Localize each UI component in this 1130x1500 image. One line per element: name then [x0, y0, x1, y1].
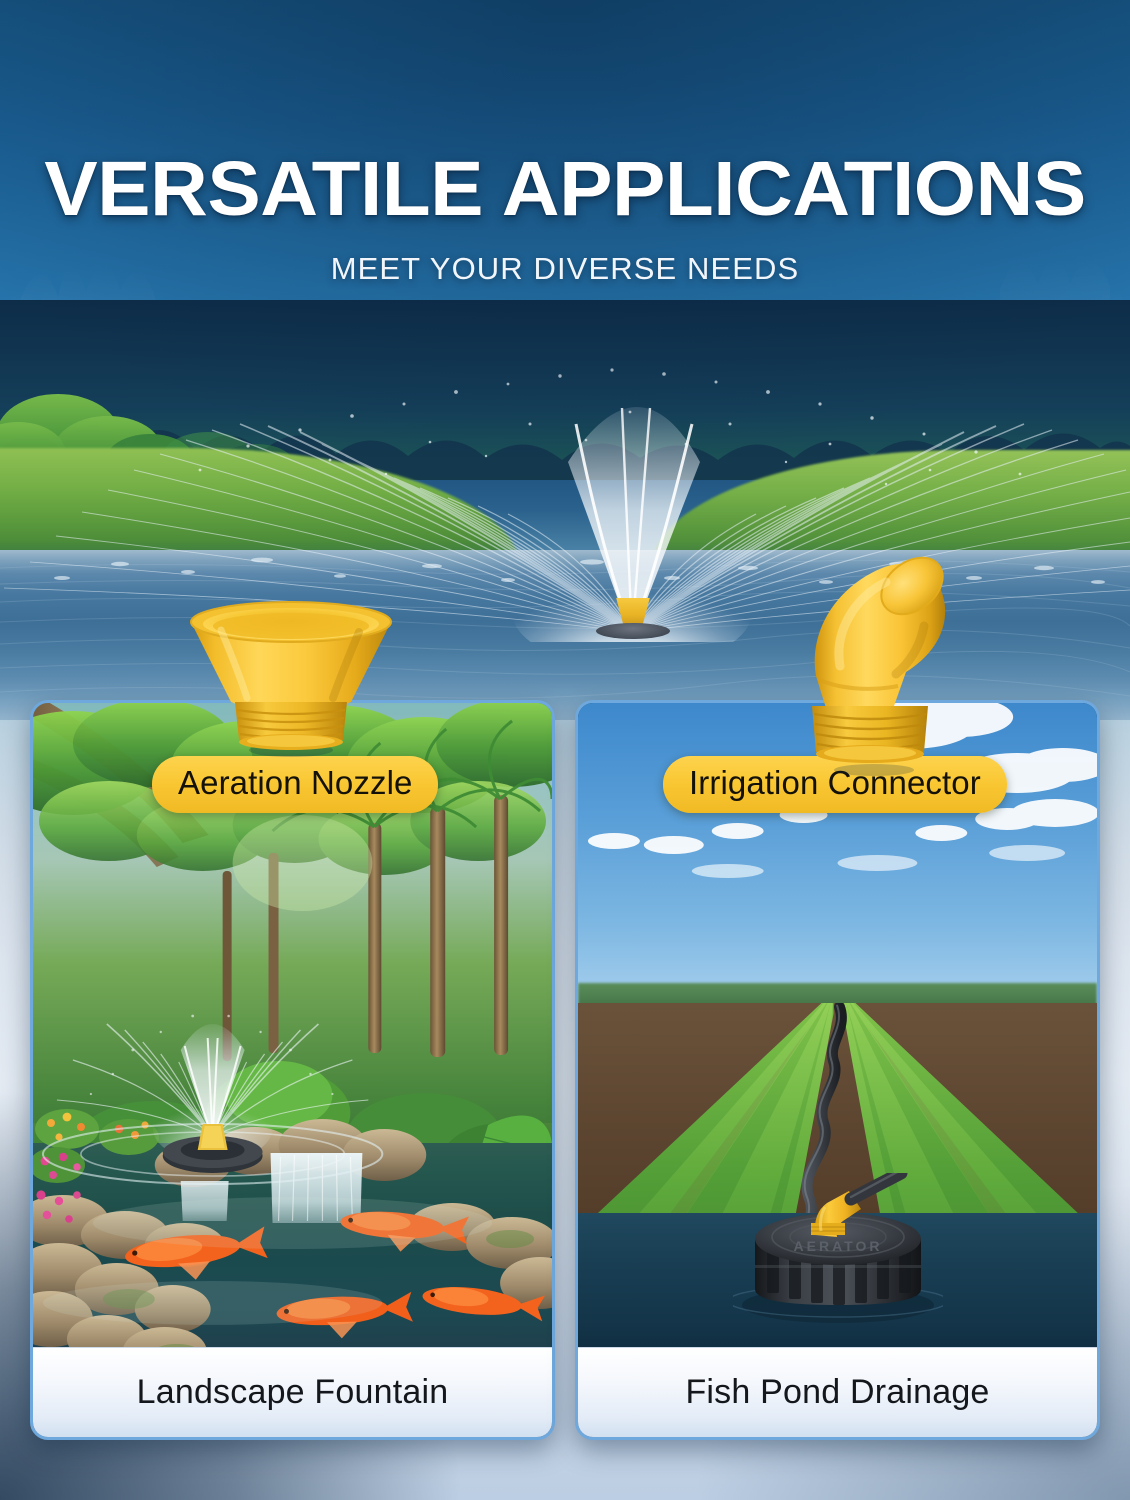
title-block: VERSATILE APPLICATIONS MEET YOUR DIVERSE… [0, 150, 1130, 287]
product-irrigation-connector [786, 556, 962, 778]
aerator-device: AERATOR [733, 1173, 943, 1323]
aerator-embossed-label: AERATOR [793, 1238, 882, 1254]
pill-label-aeration-nozzle: Aeration Nozzle [152, 756, 438, 813]
page-headline: VERSATILE APPLICATIONS [0, 150, 1130, 229]
product-aeration-nozzle [183, 598, 399, 758]
panel-caption-landscape-fountain: Landscape Fountain [33, 1347, 552, 1437]
pill-label-text: Aeration Nozzle [178, 764, 412, 801]
infographic-stage: VERSATILE APPLICATIONS MEET YOUR DIVERSE… [0, 0, 1130, 1500]
caption-text: Landscape Fountain [137, 1373, 449, 1412]
panel-caption-fish-pond-drainage: Fish Pond Drainage [578, 1347, 1097, 1437]
koi-fish [33, 1183, 552, 1353]
caption-text: Fish Pond Drainage [685, 1373, 989, 1412]
pond-fountain-spray [33, 958, 552, 1208]
page-subheadline: MEET YOUR DIVERSE NEEDS [0, 251, 1130, 287]
